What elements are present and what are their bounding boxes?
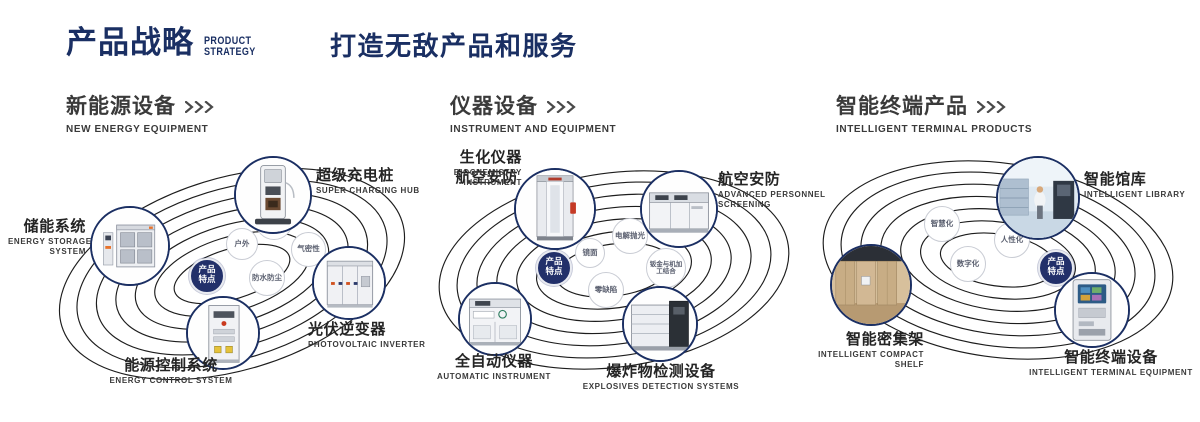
section-title-text: 新能源设备 [66, 96, 176, 117]
product-node-terminal-equipment[interactable] [1054, 272, 1130, 348]
product-label-cn: 储能系统 [8, 219, 86, 235]
chevron-triple-right-icon [547, 101, 579, 113]
product-node-compact-shelf[interactable] [830, 244, 912, 326]
feature-bubble: 数字化 [950, 246, 986, 282]
feature-bubble: 智慧化 [924, 206, 960, 242]
product-label-en: EXPLOSIVES DETECTION SYSTEMS [570, 382, 752, 392]
masthead-title-en: PRODUCT STRATEGY [204, 36, 256, 58]
product-label-energy-storage: 储能系统 ENERGY STORAGE SYSTEM [8, 219, 86, 257]
product-label-en: ENERGY STORAGE SYSTEM [8, 237, 86, 257]
product-node-energy-storage[interactable] [90, 206, 170, 286]
product-label-energy-control: 能源控制系统 ENERGY CONTROL SYSTEM [76, 358, 266, 386]
product-node-automatic-instrument[interactable] [458, 282, 532, 356]
feature-bubble: 防水防尘 [249, 260, 285, 296]
masthead-slogan: 打造无敌产品和服务 [330, 34, 578, 60]
security-gate-icon [516, 170, 594, 248]
product-label-automatic-instrument: 全自动仪器 AUTOMATIC INSTRUMENT [412, 354, 576, 382]
product-strategy-infographic: 产品战略 PRODUCT STRATEGY 打造无敌产品和服务 新能源设备 NE… [0, 0, 1200, 422]
section-title-en: INTELLIGENT TERMINAL PRODUCTS [836, 124, 1032, 135]
product-label-en: BIOCHEMISTRY INSTRUMENT [432, 168, 522, 188]
section-header-intelligent: 智能终端产品 INTELLIGENT TERMINAL PRODUCTS [836, 96, 1032, 135]
core-badge: 产品特点 [536, 250, 572, 286]
product-label-intelligent-library: 智能馆库 INTELLIGENT LIBRARY [1084, 172, 1200, 200]
product-label-cn: 爆炸物检测设备 [570, 364, 752, 380]
product-label-en: ENERGY CONTROL SYSTEM [76, 376, 266, 386]
section-title-cn: 仪器设备 [450, 96, 616, 117]
product-label-cn: 生化仪器 [432, 150, 522, 166]
masthead: 产品战略 PRODUCT STRATEGY [66, 28, 267, 59]
feature-bubble: 户外 [226, 228, 258, 260]
inverter-cabinet-icon [314, 248, 384, 318]
product-node-intelligent-library[interactable] [996, 156, 1080, 240]
feature-bubble: 零缺陷 [588, 272, 624, 308]
core-badge-text: 产品特点 [198, 266, 215, 286]
masthead-title-en-line2: STRATEGY [204, 47, 256, 58]
cluster-intelligent: 产品特点 智慧化 数字化 人性化 智能馆库 INTELL [800, 150, 1200, 390]
product-label-en: INTELLIGENT COMPACT SHELF [764, 350, 924, 370]
product-node-pv-inverter[interactable] [312, 246, 386, 320]
cluster-new-energy: 产品特点 户外 防腐防锈 防水防尘 气密性 储能系统 [40, 150, 420, 390]
chevron-triple-right-icon [185, 101, 217, 113]
battery-cabinet-icon [92, 208, 168, 284]
product-label-en: INTELLIGENT LIBRARY [1084, 190, 1200, 200]
section-title-text: 智能终端产品 [836, 96, 968, 117]
detector-rack-icon [624, 288, 696, 360]
product-label-cn: 能源控制系统 [76, 358, 266, 374]
cluster-instrument: 产品特点 镜面 电解抛光 零缺陷 钣金与机加工结合 航空安防 生化仪器 [418, 150, 818, 390]
product-label-en: AUTOMATIC INSTRUMENT [412, 372, 576, 382]
section-title-cn: 新能源设备 [66, 96, 217, 117]
product-label-cn: 智能密集架 [764, 332, 924, 348]
product-label-compact-shelf: 智能密集架 INTELLIGENT COMPACT SHELF [764, 332, 924, 370]
product-label-biochemistry: 生化仪器 BIOCHEMISTRY INSTRUMENT [432, 150, 522, 188]
product-label-terminal-equipment: 智能终端设备 INTELLIGENT TERMINAL EQUIPMENT [1022, 350, 1200, 378]
section-title-text: 仪器设备 [450, 96, 538, 117]
library-room-icon [998, 158, 1078, 238]
compact-shelf-icon [832, 246, 910, 324]
section-title-en: NEW ENERGY EQUIPMENT [66, 124, 217, 135]
product-node-biochemistry-instrument[interactable] [514, 168, 596, 250]
product-label-en: INTELLIGENT TERMINAL EQUIPMENT [1022, 368, 1200, 378]
core-badge-text: 产品特点 [545, 258, 562, 278]
charging-pile-icon [236, 158, 310, 232]
product-node-advanced-screening[interactable] [640, 170, 718, 248]
product-node-explosives-detection[interactable] [622, 286, 698, 362]
product-label-explosives-detection: 爆炸物检测设备 EXPLOSIVES DETECTION SYSTEMS [570, 364, 752, 392]
core-badge: 产品特点 [189, 258, 225, 294]
analyzer-icon [642, 172, 716, 246]
product-node-charging-hub[interactable] [234, 156, 312, 234]
feature-bubble: 钣金与机加工结合 [646, 248, 686, 288]
section-header-instrument: 仪器设备 INSTRUMENT AND EQUIPMENT [450, 96, 616, 135]
product-label-cn: 全自动仪器 [412, 354, 576, 370]
product-label-cn: 智能馆库 [1084, 172, 1200, 188]
section-header-new-energy: 新能源设备 NEW ENERGY EQUIPMENT [66, 96, 217, 135]
auto-instrument-icon [460, 284, 530, 354]
section-title-en: INSTRUMENT AND EQUIPMENT [450, 124, 616, 135]
masthead-title-cn: 产品战略 [66, 28, 194, 59]
product-label-cn: 智能终端设备 [1022, 350, 1200, 366]
section-title-cn: 智能终端产品 [836, 96, 1032, 117]
chevron-triple-right-icon [977, 101, 1009, 113]
kiosk-icon [1056, 274, 1128, 346]
